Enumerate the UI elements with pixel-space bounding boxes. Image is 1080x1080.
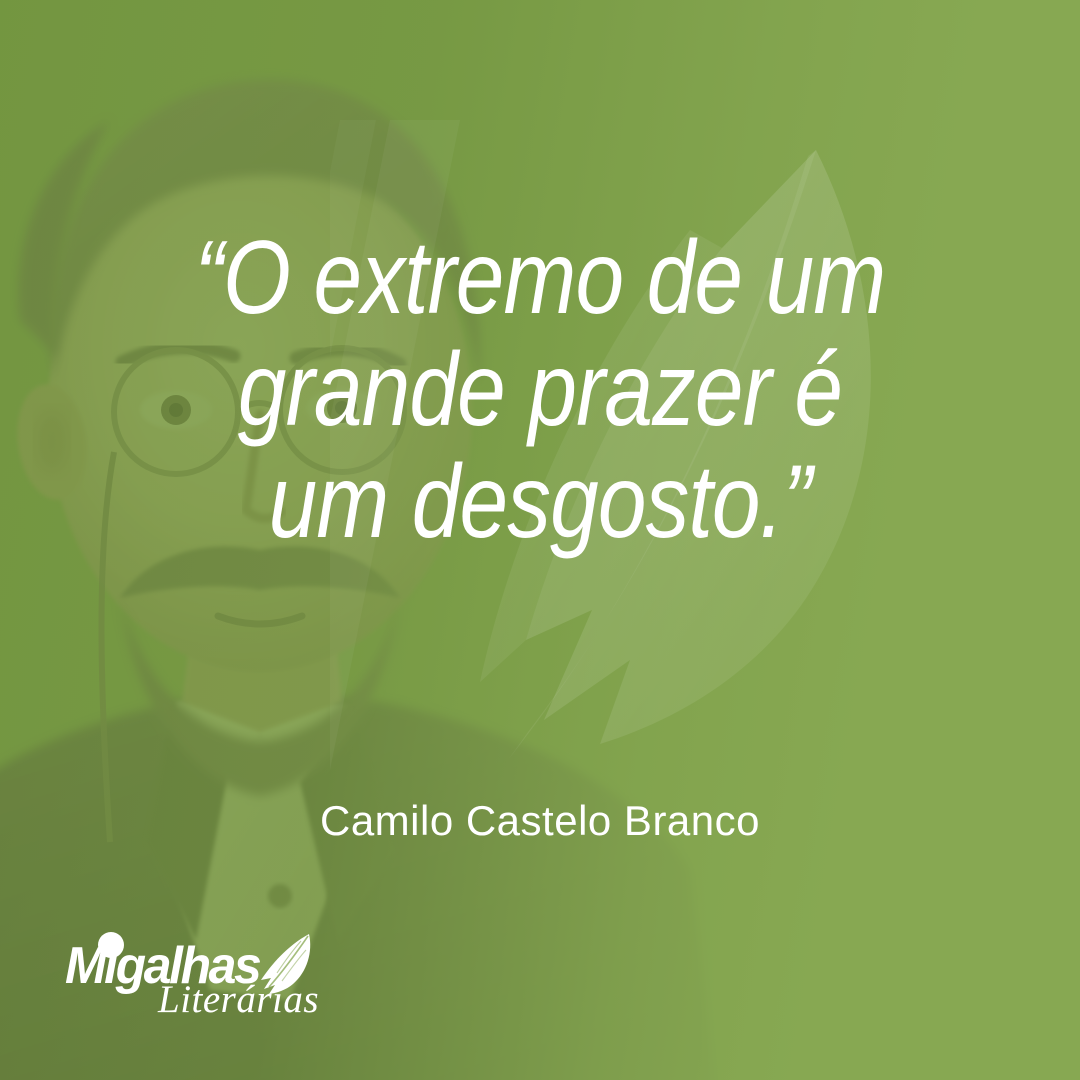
quote-line-1: “O extremo de um — [86, 222, 993, 334]
migalhas-literarias-logo[interactable]: Migalhas Literárias — [62, 928, 322, 1024]
quote-line-2: grande prazer é — [86, 334, 993, 446]
logo-subtitle: Literárias — [158, 980, 319, 1019]
quote-card: “O extremo de um grande prazer é um desg… — [0, 0, 1080, 1080]
author-name: Camilo Castelo Branco — [0, 797, 1080, 845]
quote-line-3: um desgosto.” — [86, 446, 993, 558]
quote-text: “O extremo de um grande prazer é um desg… — [0, 222, 1080, 558]
